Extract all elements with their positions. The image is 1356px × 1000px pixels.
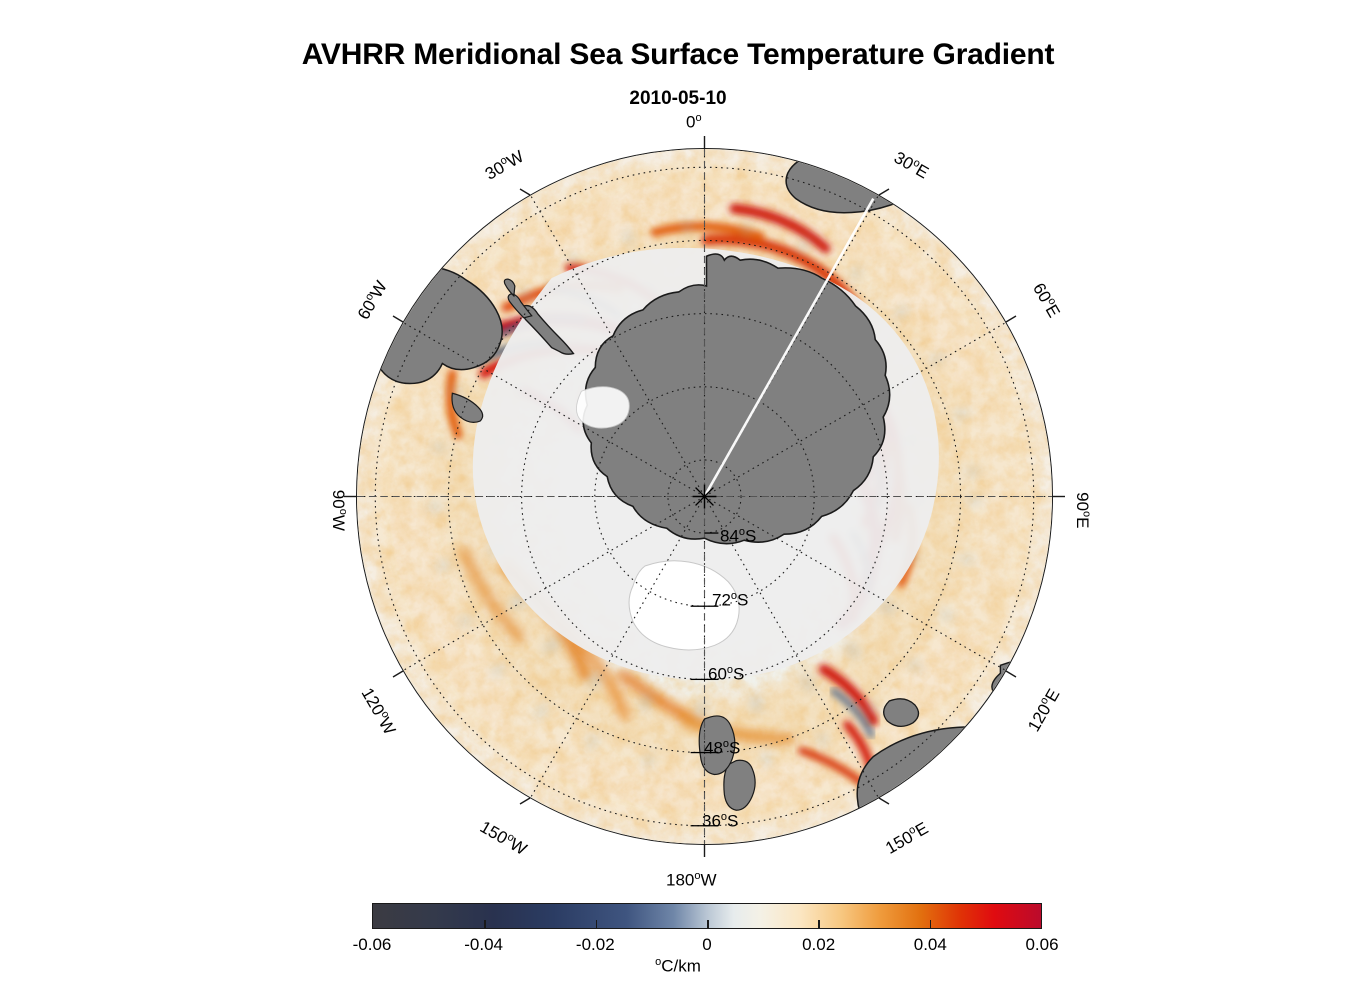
colorbar-ticklabel: -0.06 bbox=[353, 935, 392, 955]
colorbar-ticklabel: -0.02 bbox=[576, 935, 615, 955]
colorbar-tick bbox=[707, 920, 709, 929]
colorbar-gradient bbox=[372, 903, 1042, 929]
subtitle-date: 2010-05-10 bbox=[0, 88, 1356, 110]
figure-canvas: AVHRR Meridional Sea Surface Temperature… bbox=[0, 0, 1356, 1000]
colorbar: -0.06 -0.04 -0.02 0 0.02 0.04 0.06 bbox=[372, 903, 1042, 959]
page-title: AVHRR Meridional Sea Surface Temperature… bbox=[0, 38, 1356, 72]
colorbar-ticklabel: 0.02 bbox=[802, 935, 835, 955]
lat-label-36S: 36oS bbox=[702, 811, 738, 832]
polar-map: 0o 30oE 60oE 90oE 120oE 150oE 180oW 150o… bbox=[356, 148, 1053, 845]
colorbar-tick bbox=[930, 920, 932, 929]
lat-label-48S: 48oS bbox=[704, 738, 740, 759]
colorbar-tick bbox=[818, 920, 820, 929]
colorbar-units-label: oC/km bbox=[0, 956, 1356, 977]
colorbar-ticklabel: 0 bbox=[702, 935, 711, 955]
lon-label-180W: 180oW bbox=[666, 870, 717, 891]
lat-label-84S: 84oS bbox=[720, 526, 756, 547]
colorbar-tick bbox=[596, 920, 598, 929]
lat-label-72S: 72oS bbox=[712, 590, 748, 611]
lat-label-60S: 60oS bbox=[708, 664, 744, 685]
colorbar-ticklabel: 0.04 bbox=[914, 935, 947, 955]
colorbar-tick bbox=[484, 920, 486, 929]
colorbar-ticklabel: -0.04 bbox=[464, 935, 503, 955]
colorbar-ticklabel: 0.06 bbox=[1025, 935, 1058, 955]
lon-label-0: 0o bbox=[686, 112, 702, 133]
lon-label-90E: 90oE bbox=[1072, 492, 1093, 528]
lon-label-90W: 90oW bbox=[328, 490, 349, 531]
